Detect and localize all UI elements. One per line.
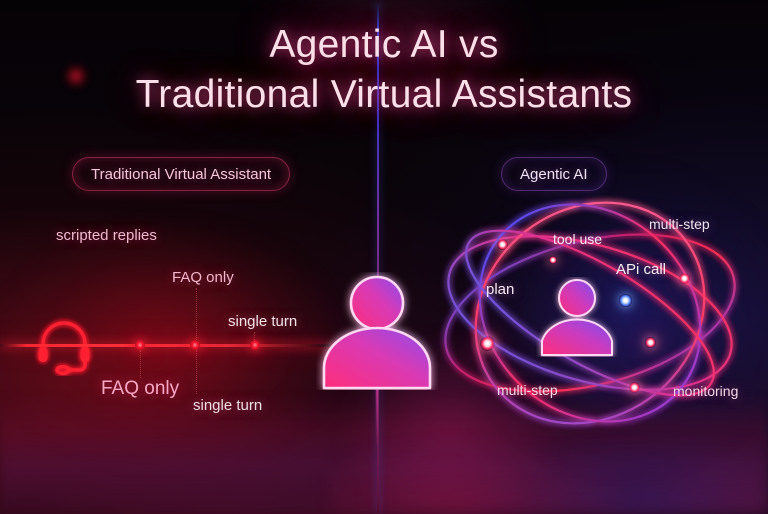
badge-left-label: Traditional Virtual Assistant — [91, 166, 271, 183]
timeline-connector — [140, 350, 142, 378]
person-icon-right — [536, 277, 618, 357]
center-pedestal — [376, 388, 378, 448]
badge-right-label: Agentic AI — [520, 166, 588, 183]
orbit-node — [629, 382, 640, 393]
orbit-node — [480, 336, 495, 351]
timeline-connector — [254, 332, 256, 344]
label-tool-use: tool use — [553, 231, 602, 247]
timeline-dot — [190, 340, 200, 350]
infographic-canvas: Agentic AI vs Traditional Virtual Assist… — [0, 0, 768, 514]
timeline-line — [0, 344, 330, 347]
label-faq-only-top: FAQ only — [172, 269, 234, 286]
label-monitoring: monitoring — [673, 383, 738, 399]
orbit-node — [679, 273, 690, 284]
label-api-call: APi call — [616, 261, 666, 278]
badge-traditional-virtual-assistant: Traditional Virtual Assistant — [72, 157, 290, 191]
page-title-line-2: Traditional Virtual Assistants — [0, 70, 768, 120]
label-single-turn-bottom: single turn — [193, 397, 262, 414]
timeline-connector — [196, 288, 198, 340]
orbit-node — [645, 337, 656, 348]
person-icon-center — [316, 272, 438, 390]
page-title: Agentic AI vs Traditional Virtual Assist… — [0, 20, 768, 120]
timeline-connector — [196, 350, 198, 394]
label-multi-step-top: multi-step — [649, 216, 710, 232]
page-title-line-1: Agentic AI vs — [0, 20, 768, 70]
timeline-dot — [135, 340, 145, 350]
label-single-turn-top: single turn — [228, 313, 297, 330]
orbit-node — [497, 239, 508, 250]
label-plan: plan — [486, 281, 514, 298]
label-scripted-replies: scripted replies — [56, 227, 157, 244]
label-faq-only-bottom: FAQ only — [101, 378, 179, 400]
badge-agentic-ai: Agentic AI — [501, 157, 607, 191]
orbit-node-blue — [619, 294, 632, 307]
label-multi-step-bottom: multi-step — [497, 382, 558, 398]
orbit-node — [549, 256, 557, 264]
